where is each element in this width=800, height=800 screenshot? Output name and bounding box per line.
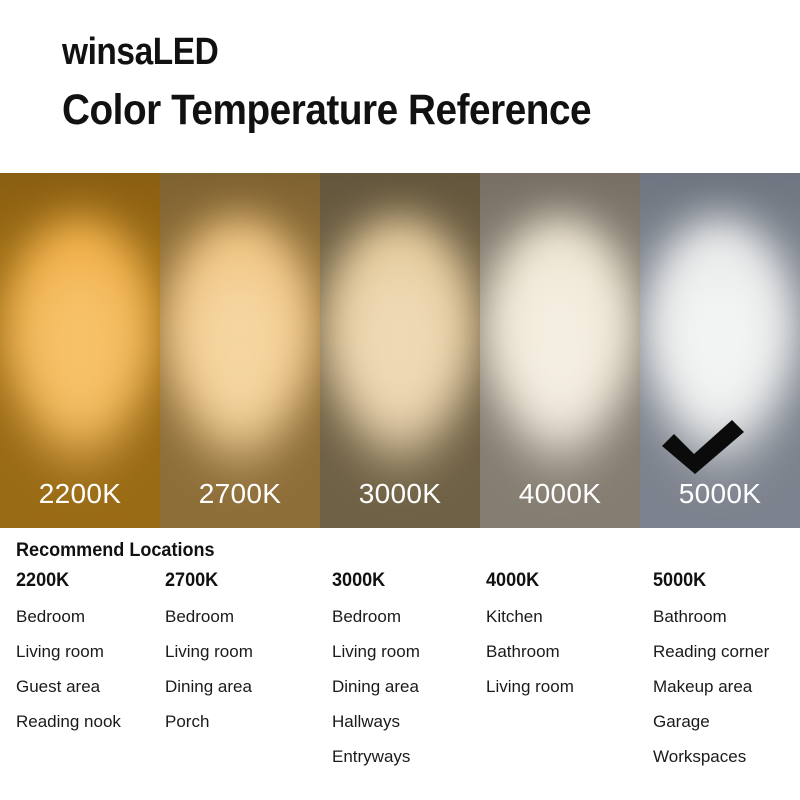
recommend-column-header: 3000K: [332, 570, 415, 599]
recommend-location-item: Garage: [653, 704, 769, 739]
color-temperature-swatch-band: 2200K2700K3000K4000K5000K: [0, 173, 800, 528]
recommend-location-item: Entryways: [332, 739, 420, 774]
recommend-column-header: 5000K: [653, 570, 763, 599]
recommend-column-2700k: 2700KBedroomLiving roomDining areaPorch: [165, 570, 253, 739]
recommend-location-item: Kitchen: [486, 599, 574, 634]
recommend-location-item: Bedroom: [332, 599, 420, 634]
swatch-2200k[interactable]: 2200K: [0, 173, 160, 528]
swatch-4000k[interactable]: 4000K: [480, 173, 640, 528]
recommend-location-item: Porch: [165, 704, 253, 739]
swatch-5000k[interactable]: 5000K: [640, 173, 800, 528]
recommend-location-item: Makeup area: [653, 669, 769, 704]
recommend-column-2200k: 2200KBedroomLiving roomGuest areaReading…: [16, 570, 121, 739]
swatch-2700k[interactable]: 2700K: [160, 173, 320, 528]
recommend-location-item: Dining area: [332, 669, 420, 704]
recommend-location-item: Reading nook: [16, 704, 121, 739]
swatch-3000k[interactable]: 3000K: [320, 173, 480, 528]
recommend-location-item: Living room: [165, 634, 253, 669]
recommend-column-5000k: 5000KBathroomReading cornerMakeup areaGa…: [653, 570, 769, 774]
swatch-label: 3000K: [320, 478, 480, 510]
recommend-location-item: Living room: [16, 634, 121, 669]
page-header: winsaLED Color Temperature Reference: [0, 0, 800, 173]
check-mark-icon: [658, 418, 748, 476]
recommend-location-item: Bathroom: [653, 599, 769, 634]
recommend-column-3000k: 3000KBedroomLiving roomDining areaHallwa…: [332, 570, 420, 774]
recommend-location-item: Living room: [332, 634, 420, 669]
recommend-location-item: Dining area: [165, 669, 253, 704]
swatch-label: 5000K: [640, 478, 800, 510]
recommend-column-header: 4000K: [486, 570, 569, 599]
recommend-locations-section: Recommend Locations 2200KBedroomLiving r…: [0, 528, 800, 800]
brand-name: winsaLED: [62, 33, 218, 73]
recommend-location-item: Bedroom: [165, 599, 253, 634]
recommend-column-header: 2700K: [165, 570, 248, 599]
recommend-location-item: Workspaces: [653, 739, 769, 774]
page-title: Color Temperature Reference: [62, 88, 591, 133]
swatch-label: 2200K: [0, 478, 160, 510]
recommend-location-item: Bathroom: [486, 634, 574, 669]
recommend-locations-heading: Recommend Locations: [16, 540, 215, 562]
recommend-column-4000k: 4000KKitchenBathroomLiving room: [486, 570, 574, 704]
recommend-location-item: Living room: [486, 669, 574, 704]
swatch-label: 4000K: [480, 478, 640, 510]
recommend-location-item: Reading corner: [653, 634, 769, 669]
swatch-label: 2700K: [160, 478, 320, 510]
recommend-location-item: Guest area: [16, 669, 121, 704]
recommend-column-header: 2200K: [16, 570, 116, 599]
recommend-location-item: Hallways: [332, 704, 420, 739]
recommend-location-item: Bedroom: [16, 599, 121, 634]
